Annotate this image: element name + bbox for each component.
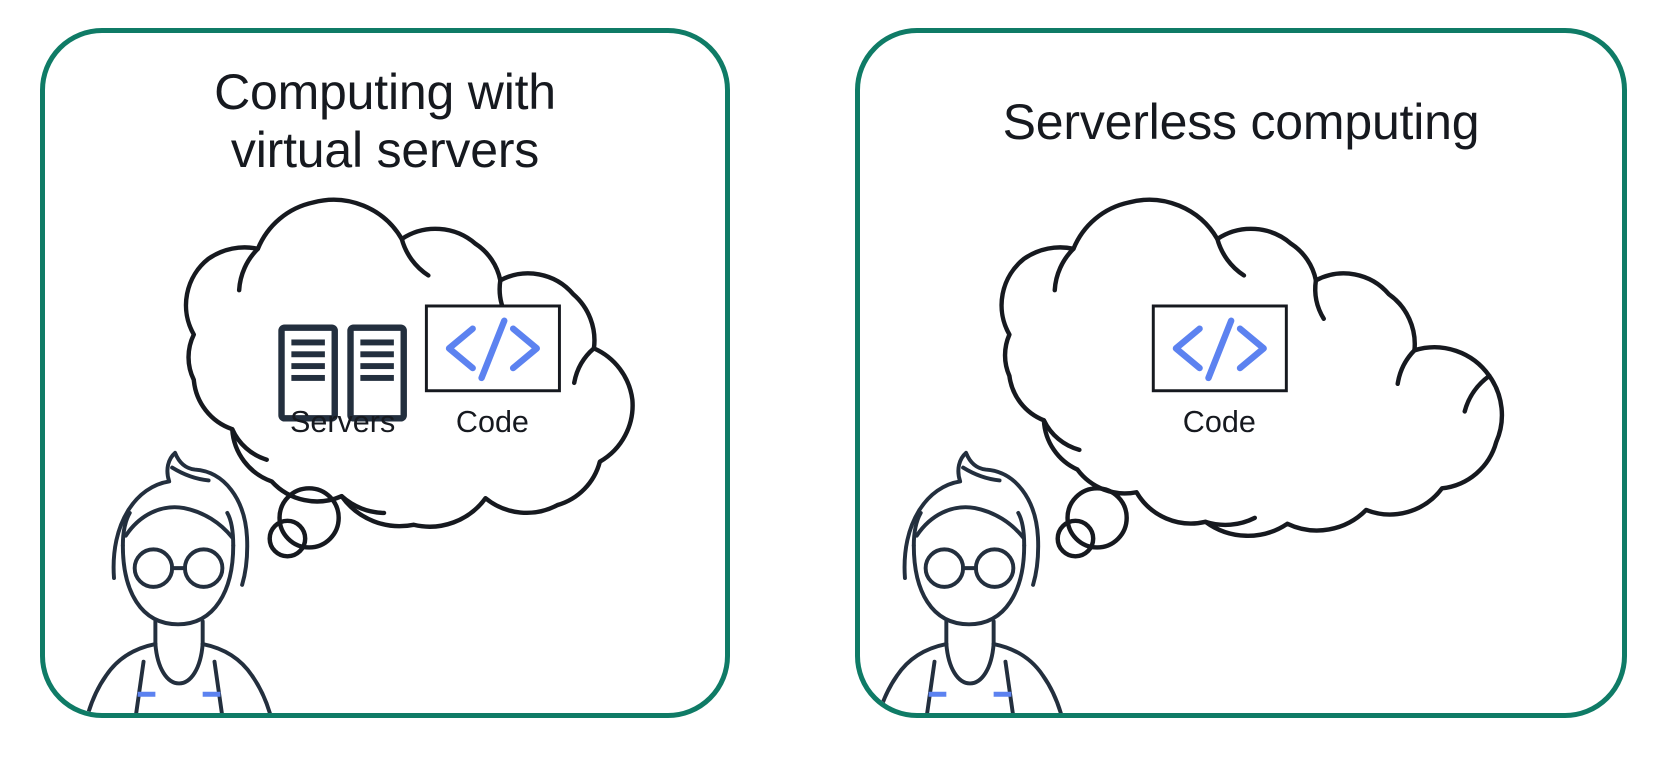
servers-label: Servers [290, 405, 395, 439]
illustration-virtual-servers: Servers Code [45, 33, 725, 713]
code-label: Code [456, 405, 529, 439]
thought-bubble-large [280, 488, 339, 547]
person-figure [80, 453, 277, 713]
shirt-stripes [132, 694, 227, 713]
diagram-canvas: Computing with virtual servers [0, 0, 1680, 772]
panel-virtual-servers: Computing with virtual servers [40, 28, 730, 718]
thought-bubble-large [1068, 488, 1127, 547]
code-icon [1153, 306, 1286, 391]
panel-serverless: Serverless computing [855, 28, 1627, 718]
code-label: Code [1183, 405, 1256, 439]
shirt-stripes [923, 694, 1018, 713]
illustration-serverless: Code [860, 33, 1622, 713]
person-figure [871, 453, 1068, 713]
thought-cloud-outline [186, 200, 633, 527]
code-icon [426, 306, 559, 391]
